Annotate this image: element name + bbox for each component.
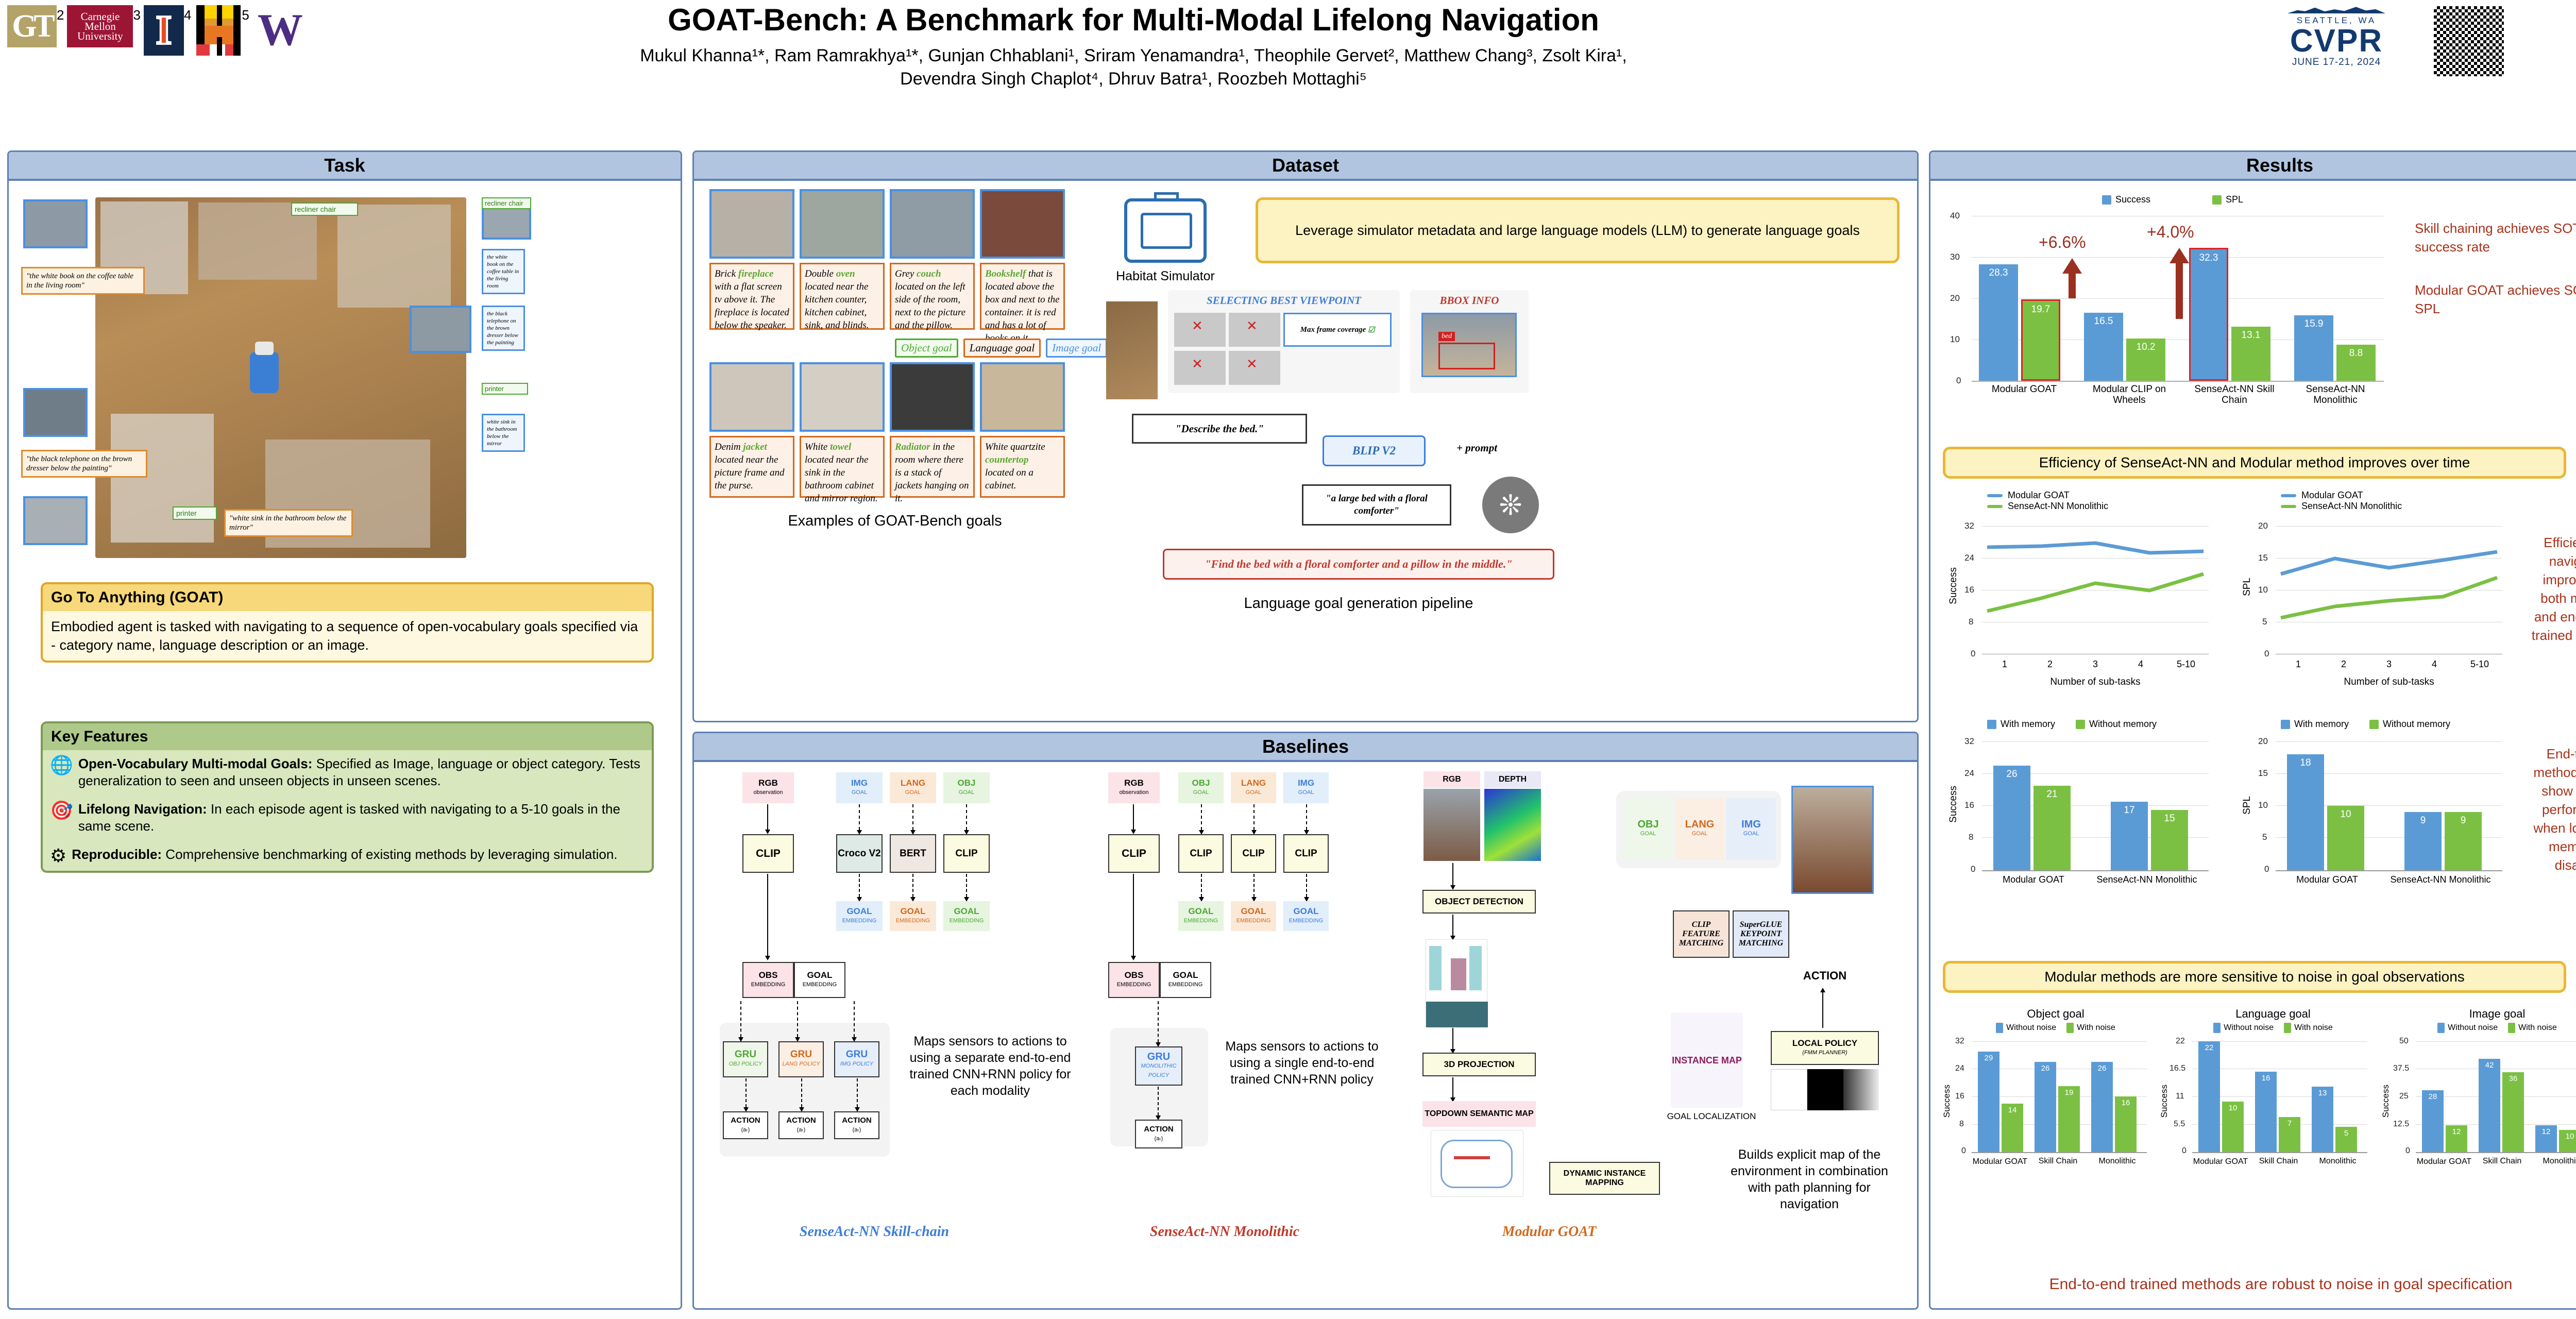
sc-goal-emb-obj: GOALEMBEDDING	[943, 901, 990, 931]
noise-image-plot: 50 37.5 25 12.5 0 28 12 42 36 12 10	[2416, 1041, 2576, 1152]
cvpr-dates: JUNE 17-21, 2024	[2292, 57, 2381, 68]
dataset-thumb-6	[800, 362, 885, 432]
ytick-0: 0	[1956, 376, 1961, 386]
teaser-thumb-1	[23, 199, 88, 248]
mem-ytick-16: 16	[1964, 800, 1974, 810]
mg-object-detection-node: OBJECT DETECTION	[1422, 890, 1536, 914]
chip-object-goal: Object goal	[895, 339, 958, 358]
mg-topdown-label: TOPDOWN SEMANTIC MAP	[1422, 1101, 1536, 1127]
mono-img-goal-node: IMGGOAL	[1283, 772, 1329, 803]
poster-header: GT 2 CarnegieMellonUniversity 3 I 4	[0, 0, 2576, 148]
spl-line-xaxis: 1 2 3 4 5-10	[2276, 659, 2502, 670]
ni-ytick-50: 50	[2399, 1037, 2409, 1046]
sc-action-node-2: ACTION(aₜ)	[778, 1111, 824, 1139]
ytick-20: 20	[1950, 293, 1960, 303]
sc-arrow-bert-goalemb	[912, 874, 913, 897]
bar-value-13-1: 13.1	[2231, 330, 2270, 341]
bar-mem-without-monolithic: 15	[2151, 810, 2188, 870]
success-ytick-0: 0	[1971, 649, 1975, 659]
legend-label-with-noise-3: With noise	[2518, 1023, 2557, 1033]
bar-value-26b: 26	[2091, 1064, 2113, 1073]
main-bar-chart: Success SPL 40 30 20 10 0 28.3 19.7 16.5	[1941, 189, 2404, 431]
xtick-monolithic: SenseAct-NN Monolithic	[2287, 384, 2384, 405]
bar-noise-lang-w-2: 7	[2279, 1117, 2300, 1152]
bar-value-9a: 9	[2404, 815, 2442, 826]
nl-xtick-monolithic: Monolithic	[2308, 1157, 2367, 1166]
goat-body: Embodied agent is tasked with navigating…	[43, 611, 652, 661]
memory-spl-plot: 20 15 10 5 0 18 10 9 9	[2276, 741, 2502, 870]
main-chart-xaxis: Modular GOAT Modular CLIP on Wheels Sens…	[1972, 384, 2384, 405]
memory-success-plot: 32 24 16 8 0 26 21 17 15	[1982, 741, 2209, 870]
bar-memspl-without-modular: 10	[2327, 806, 2364, 870]
noise-language-plot: 22 16.5 11 5.5 0 22 10 16 7 13 5	[2192, 1041, 2367, 1152]
teaser-caption-3: "white sink in the bathroom below the mi…	[224, 509, 353, 537]
spl-line-paths	[2276, 526, 2502, 655]
mg-clip-matching-node: CLIP FEATURE MATCHING	[1673, 910, 1730, 958]
legend-label-monolithic-spl: SenseAct-NN Monolithic	[2301, 501, 2402, 512]
mg-dynamic-mapping-node: DYNAMIC INSTANCE MAPPING	[1549, 1162, 1660, 1195]
sc-img-goal-node: IMGGOAL	[836, 772, 883, 803]
pipeline-scene-thumb	[1106, 301, 1158, 399]
legend-label-success: Success	[2115, 194, 2150, 205]
bar-value-26: 26	[1993, 769, 2030, 780]
legend-swatch-without-noise-2	[2213, 1023, 2221, 1033]
annotation-arrow-4-0	[2176, 257, 2183, 319]
cvpr-name: CVPR	[2290, 26, 2383, 57]
legend-line-modular-goat-spl	[2281, 494, 2296, 497]
noise-banner: Modular methods are more sensitive to no…	[1943, 961, 2566, 993]
authors-line-2: Devendra Singh Chaplot⁴, Dhruv Batra¹, R…	[592, 67, 1674, 91]
llm-gpt-icon: ❊	[1482, 477, 1539, 533]
sc-action-node-3: ACTION(aₜ)	[834, 1111, 879, 1139]
noise-image-title: Image goal	[2384, 1007, 2576, 1021]
legend-line-monolithic	[1987, 505, 2003, 508]
ytick-40: 40	[1950, 211, 1960, 221]
bar-noise-img-w-2: 36	[2502, 1072, 2524, 1152]
dataset-thumb-5	[709, 362, 794, 432]
xtick-cow: Modular CLIP on Wheels	[2077, 384, 2182, 405]
nl-ytick-11: 11	[2176, 1092, 2184, 1101]
key-feature-3-text: Comprehensive benchmarking of existing m…	[162, 847, 617, 862]
dataset-caption-7: Radiator in the room where there is a st…	[890, 436, 975, 498]
note-efficiency-side: Efficiency of navigation improves for bo…	[2531, 533, 2576, 645]
bar-success-cow: 16.5	[2084, 313, 2123, 381]
annotation-label-4-0: +4.0%	[2147, 223, 2194, 242]
mg-goal-localization-label: GOAL LOCALIZATION	[1652, 1111, 1771, 1122]
mg-arrow-proj-topdown	[1452, 1077, 1453, 1098]
noise-language-legend: Without noise With noise	[2162, 1023, 2384, 1033]
key-features-heading: Key Features	[43, 723, 652, 750]
sc-arrow-rgb-clip	[767, 804, 768, 830]
bar-noise-img-w-1: 12	[2446, 1125, 2467, 1152]
mono-arrow-clip-obs	[1133, 874, 1134, 956]
bar-value-10-img: 10	[2559, 1132, 2576, 1141]
bar-value-16: 16	[2115, 1098, 2137, 1107]
note-memory-side: End-to-end methods do not show drop in p…	[2531, 745, 2576, 874]
teaser-object-goal-label-1: recliner chair	[291, 202, 358, 216]
sc-clip2-node: CLIP	[943, 834, 990, 873]
legend-label-without-noise-3: Without noise	[2448, 1023, 2498, 1033]
mg-img-goal-node: IMGGOAL	[1726, 798, 1776, 860]
sc-arrow-clip2-goalemb	[966, 874, 967, 897]
mono-obj-goal-node: OBJGOAL	[1178, 772, 1224, 803]
mono-arrow-gru-action	[1158, 1087, 1159, 1115]
mono-arrow-lang-clip	[1253, 804, 1255, 830]
success-xtick-3: 3	[2073, 659, 2118, 670]
noise-object-title: Object goal	[1945, 1007, 2166, 1021]
bar-value-14: 14	[2002, 1106, 2023, 1114]
open-vocabulary-icon: 🌐	[50, 755, 73, 775]
mg-depth-label: DEPTH	[1484, 771, 1541, 788]
teaser-right-caption-2: the black telephone on the brown dresser…	[482, 306, 525, 351]
teaser-thumb-3	[23, 496, 88, 545]
legend-label-without-memory-spl: Without memory	[2383, 719, 2450, 730]
ni-ytick-25: 25	[2399, 1092, 2409, 1101]
mem-xtick-modular: Modular GOAT	[1982, 874, 2085, 885]
mono-arrow-clip3-goalemb	[1253, 874, 1255, 897]
teaser-caption-1: "the white book on the coffee table in t…	[21, 267, 145, 295]
bar-noise-obj-wo-2: 26	[2035, 1062, 2056, 1152]
max-frame-coverage-box: Max frame coverage ☑	[1283, 313, 1392, 347]
sc-arrow-clip-obs	[767, 874, 768, 956]
noise-object-ylabel: Success	[1942, 1085, 1952, 1118]
bar-spl-cow: 10.2	[2126, 339, 2165, 381]
bar-memspl-without-monolithic: 9	[2445, 812, 2482, 870]
spl-xtick-3: 3	[2366, 659, 2412, 670]
spl-ytick-15: 15	[2258, 553, 2268, 563]
key-features-callout: Key Features 🌐 Open-Vocabulary Multi-mod…	[41, 721, 654, 873]
bar-mem-with-modular: 26	[1993, 766, 2030, 870]
sc-arrow-gru-lang-action	[801, 1078, 802, 1107]
teaser-right-label-2: printer	[482, 383, 528, 395]
llm-note: Leverage simulator metadata and large la…	[1256, 197, 1900, 263]
legend-swatch-without-noise-3	[2437, 1023, 2445, 1033]
noise-object-xaxis: Modular GOAT Skill Chain Monolithic	[1972, 1157, 2147, 1166]
task-teaser-figure: "the white book on the coffee table in t…	[18, 187, 672, 568]
viewpoint-header: SELECTING BEST VIEWPOINT	[1168, 290, 1400, 307]
dataset-panel-title: Dataset	[1272, 155, 1339, 176]
sc-arrow-to-gru-img	[854, 1001, 855, 1037]
bar-value-12a: 12	[2446, 1127, 2467, 1136]
legend-line-monolithic-spl	[2281, 505, 2296, 508]
legend-line-modular-goat	[1987, 494, 2003, 497]
teaser-right-caption-3: white sink in the bathroom below the mir…	[482, 414, 525, 452]
ni-xtick-modular: Modular GOAT	[2416, 1157, 2472, 1166]
no-ytick-8: 8	[1959, 1120, 1964, 1129]
success-line-chart: Modular GOAT SenseAct-NN Monolithic Succ…	[1946, 490, 2234, 706]
legend-swatch-with-memory	[1987, 720, 1996, 729]
legend-swatch-without-memory	[2076, 720, 2085, 729]
teaser-caption-2: "the black telephone on the brown dresse…	[21, 450, 147, 478]
noise-image-legend: Without noise With noise	[2384, 1023, 2576, 1033]
spl-line-legend: Modular GOAT SenseAct-NN Monolithic	[2281, 490, 2402, 512]
dataset-thumb-1	[709, 189, 794, 259]
sc-gru-lang-node: GRULANG POLICY	[778, 1041, 824, 1077]
legend-swatch-spl	[2212, 195, 2222, 205]
chip-language-goal: Language goal	[963, 339, 1041, 358]
legend-swatch-with-noise-3	[2508, 1023, 2515, 1033]
memory-success-xaxis: Modular GOAT SenseAct-NN Monolithic	[1982, 874, 2209, 885]
noise-language-ylabel: Success	[2159, 1085, 2170, 1118]
annotation-arrowhead-4-0	[2170, 248, 2189, 263]
dataset-caption-1: Brick fireplace with a flat screen tv ab…	[709, 263, 794, 330]
bar-value-21: 21	[2033, 789, 2071, 800]
bar-noise-lang-w-1: 10	[2222, 1102, 2244, 1152]
modular-goat-diagram: RGB DEPTH OBJECT DETECTION 3D PROJECTION…	[1415, 770, 1905, 1249]
results-panel-header: Results	[1930, 152, 2576, 181]
xtick-skillchain: SenseAct-NN Skill Chain	[2182, 384, 2287, 405]
mono-rgb-node: RGBobservation	[1108, 772, 1160, 803]
bar-noise-obj-w-2: 19	[2058, 1086, 2080, 1152]
describe-prompt-box: "Describe the bed."	[1132, 414, 1307, 444]
mg-obj-goal-node: OBJGOAL	[1623, 798, 1673, 860]
results-panel-title: Results	[2246, 155, 2313, 176]
memspl-ytick-10: 10	[2258, 800, 2268, 810]
sc-croco-node: Croco V2	[836, 834, 883, 873]
teaser-right-label-1: recliner chair	[482, 197, 531, 209]
mg-planner-strip	[1771, 1069, 1879, 1110]
carnegie-mellon-logo: CarnegieMellonUniversity	[67, 5, 133, 47]
legend-swatch-without-noise-1	[1996, 1023, 2003, 1033]
mg-segmentation-image	[1426, 939, 1487, 1027]
bar-success-skillchain: 32.3	[2189, 248, 2228, 381]
bar-value-10-2: 10.2	[2126, 342, 2165, 353]
sc-arrow-obj-clip	[966, 804, 967, 830]
success-ytick-16: 16	[1964, 585, 1974, 595]
goat-callout: Go To Anything (GOAT) Embodied agent is …	[41, 582, 654, 663]
success-xtick-5-10: 5-10	[2163, 659, 2209, 670]
ytick-10: 10	[1950, 334, 1960, 345]
mono-clip-node-2: CLIP	[1178, 834, 1224, 873]
legend-label-with-memory: With memory	[2001, 719, 2055, 730]
baselines-panel: Baselines RGBobservation IMGGOAL LANGGOA…	[692, 732, 1919, 1310]
dataset-thumb-4	[980, 189, 1065, 259]
baselines-panel-title: Baselines	[1262, 736, 1349, 757]
no-xtick-monolithic: Monolithic	[2088, 1157, 2147, 1166]
no-ytick-16: 16	[1955, 1092, 1964, 1101]
dataset-caption-5: Denim jacket located near the picture fr…	[709, 436, 794, 498]
blip-output-box: "a large bed with a floral comforter"	[1302, 484, 1451, 526]
viewpoint-panel: SELECTING BEST VIEWPOINT Max frame cover…	[1168, 290, 1400, 393]
bar-noise-lang-w-3: 5	[2335, 1127, 2357, 1152]
authors-line-1: Mukul Khanna¹*, Ram Ramrakhya¹*, Gunjan …	[592, 44, 1674, 67]
sc-arrow-lang-bert	[912, 804, 913, 830]
skillchain-caption: Maps sensors to actions to using a separ…	[905, 1033, 1075, 1099]
mem-ytick-8: 8	[1969, 832, 1973, 842]
dataset-caption-4: Bookshelf that is located above the box …	[980, 263, 1065, 330]
floorplan-image	[95, 197, 466, 558]
bar-value-26a: 26	[2035, 1064, 2056, 1073]
mem-ytick-0: 0	[1971, 864, 1975, 874]
dataset-thumb-3	[890, 189, 975, 259]
dataset-caption-2: Double oven located near the kitchen cou…	[800, 263, 885, 330]
baselines-panel-header: Baselines	[694, 733, 1917, 762]
key-feature-2-bold: Lifelong Navigation:	[78, 801, 207, 817]
affil-marker-2: 2	[57, 5, 64, 23]
dataset-panel: Dataset Brick fireplace with a flat scre…	[692, 150, 1919, 722]
sc-goal-embedding-node: GOALEMBEDDING	[794, 962, 845, 998]
cvpr-logo: SEATTLE, WA CVPR JUNE 17-21, 2024	[2262, 6, 2411, 68]
bar-noise-img-wo-1: 28	[2422, 1090, 2444, 1152]
success-line-paths	[1982, 526, 2209, 655]
noise-object-plot: 32 24 16 8 0 29 14 26 19 26 16	[1972, 1041, 2147, 1152]
legend-label-with-noise-2: With noise	[2294, 1023, 2333, 1033]
mg-depth-image	[1484, 789, 1541, 861]
legend-label-modular-goat: Modular GOAT	[2008, 490, 2070, 501]
bar-noise-lang-wo-2: 16	[2255, 1072, 2277, 1152]
sc-arrow-croco-goalemb	[859, 874, 860, 897]
annotation-label-6-6: +6.6%	[2039, 233, 2086, 252]
logo-row: GT 2 CarnegieMellonUniversity 3 I 4	[7, 5, 308, 56]
legend-swatch-without-memory-spl	[2369, 720, 2379, 729]
bar-value-13: 13	[2312, 1089, 2333, 1097]
goal-type-legend: Object goal Language goal Image goal	[895, 339, 1107, 358]
mem-ytick-24: 24	[1964, 768, 1974, 779]
mono-arrow-clip4-goalemb	[1306, 874, 1307, 897]
task-panel-header: Task	[9, 152, 681, 181]
success-line-plot: 32 24 16 8 0	[1982, 526, 2209, 655]
blip-box: BLIP V2	[1323, 435, 1426, 466]
dataset-caption-8: White quartzite countertop located on a …	[980, 436, 1065, 498]
success-ytick-8: 8	[1969, 617, 1973, 627]
mg-local-policy-node: LOCAL POLICY(FMM PLANNER)	[1771, 1031, 1879, 1065]
mono-arrow-to-gru	[1158, 1001, 1159, 1042]
sc-bert-node: BERT	[890, 834, 936, 873]
key-features-body: 🌐 Open-Vocabulary Multi-modal Goals: Spe…	[43, 750, 652, 871]
bar-value-5: 5	[2335, 1129, 2357, 1138]
sc-rgb-node: RGBobservation	[742, 772, 794, 803]
bar-noise-obj-wo-3: 26	[2091, 1062, 2113, 1152]
language-goal-pipeline: SELECTING BEST VIEWPOINT Max frame cover…	[1101, 281, 1905, 688]
legend-label-with-memory-spl: With memory	[2294, 719, 2349, 730]
dataset-thumb-2	[800, 189, 885, 259]
no-ytick-0: 0	[1961, 1146, 1966, 1156]
spl-xtick-1: 1	[2276, 659, 2321, 670]
title-block: GOAT-Bench: A Benchmark for Multi-Modal …	[592, 3, 1674, 91]
annotation-arrowhead-6-6	[2062, 258, 2082, 274]
bar-noise-obj-w-3: 16	[2115, 1096, 2137, 1152]
mono-clip-node-1: CLIP	[1108, 834, 1160, 873]
mono-lang-goal-node: LANGGOAL	[1231, 772, 1276, 803]
bbox-panel: BBOX INFO bed	[1410, 290, 1529, 393]
spl-xtick-5-10: 5-10	[2457, 659, 2502, 670]
nl-xtick-skillchain: Skill Chain	[2249, 1157, 2308, 1166]
page-title: GOAT-Bench: A Benchmark for Multi-Modal …	[592, 3, 1674, 37]
teaser-right-caption-1: the white book on the coffee table in th…	[482, 249, 525, 294]
qr-code[interactable]	[2431, 3, 2507, 79]
mono-arrow-obj-clip	[1201, 804, 1202, 830]
nl-ytick-22: 22	[2176, 1037, 2185, 1046]
success-line-xaxis: 1 2 3 4 5-10	[1982, 659, 2209, 670]
no-ytick-32: 32	[1955, 1037, 1964, 1046]
modular-caption: Builds explicit map of the environment i…	[1724, 1146, 1894, 1212]
task-panel-title: Task	[324, 155, 365, 176]
skillchain-name: SenseAct-NN Skill-chain	[709, 1224, 1039, 1240]
bar-noise-obj-wo-1: 29	[1978, 1052, 1999, 1152]
legend-label-monolithic: SenseAct-NN Monolithic	[2008, 501, 2108, 512]
xtick-modular-goat: Modular GOAT	[1972, 384, 2077, 405]
legend-label-without-memory: Without memory	[2089, 719, 2157, 730]
legend-label-without-noise-1: Without noise	[2006, 1023, 2056, 1033]
bar-value-10-lang: 10	[2222, 1104, 2244, 1112]
spl-ytick-10: 10	[2258, 585, 2268, 595]
efficiency-banner: Efficiency of SenseAct-NN and Modular me…	[1943, 447, 2566, 479]
pipeline-caption: Language goal generation pipeline	[1163, 595, 1554, 612]
sc-action-node-1: ACTION(aₜ)	[723, 1111, 768, 1139]
dataset-panel-header: Dataset	[694, 152, 1917, 181]
habitat-icon	[1124, 198, 1207, 263]
mem-xtick-monolithic: SenseAct-NN Monolithic	[2085, 874, 2209, 885]
mg-action-label: ACTION	[1786, 969, 1863, 983]
noise-language-xaxis: Modular GOAT Skill Chain Monolithic	[2192, 1157, 2367, 1166]
ni-ytick-0: 0	[2405, 1146, 2410, 1156]
ni-ytick-12-5: 12.5	[2393, 1120, 2409, 1129]
mono-clip-node-3: CLIP	[1231, 834, 1276, 873]
maryland-logo	[194, 5, 242, 56]
ni-xtick-skillchain: Skill Chain	[2472, 1157, 2532, 1166]
mono-goal-emb-lang: GOALEMBEDDING	[1231, 901, 1276, 931]
nl-xtick-modular: Modular GOAT	[2192, 1157, 2249, 1166]
dataset-thumb-8	[980, 362, 1065, 432]
main-chart-plot: 40 30 20 10 0 28.3 19.7 16.5 10.2 32.3 1…	[1972, 216, 2384, 381]
sc-arrow-to-gru-lang	[797, 1001, 798, 1037]
mg-arrow-detect-seg	[1452, 915, 1453, 936]
chip-image-goal: Image goal	[1046, 339, 1107, 358]
mg-arrow-policy-action	[1822, 992, 1823, 1028]
bar-spl-skillchain: 13.1	[2231, 327, 2270, 381]
mg-lang-goal-node: LANGGOAL	[1675, 798, 1724, 860]
affil-marker-5: 5	[242, 5, 249, 23]
teaser-right-thumb-2	[410, 306, 471, 353]
modular-name: Modular GOAT	[1446, 1224, 1652, 1240]
success-ytick-24: 24	[1964, 553, 1974, 563]
noise-language-title: Language goal	[2162, 1007, 2384, 1021]
spl-xtick-4: 4	[2412, 659, 2457, 670]
habitat-simulator-block: Habitat Simulator	[1101, 198, 1230, 284]
bar-spl-modular-goat: 19.7	[2021, 299, 2060, 381]
success-xtick-2: 2	[2027, 659, 2073, 670]
sc-arrow-to-gru-obj	[740, 1001, 741, 1037]
mg-arrow-rgb-detect	[1452, 863, 1453, 886]
bar-value-29: 29	[1978, 1054, 1999, 1062]
sc-lang-goal-node: LANGGOAL	[890, 772, 936, 803]
memspl-xtick-monolithic: SenseAct-NN Monolithic	[2379, 874, 2502, 885]
memspl-ytick-15: 15	[2258, 768, 2268, 779]
sc-gru-img-node: GRUIMG POLICY	[834, 1041, 879, 1077]
noise-language-chart: Language goal Without noise With noise S…	[2162, 1007, 2384, 1208]
noise-object-chart: Object goal Without noise With noise Suc…	[1945, 1007, 2166, 1208]
note-sota-success: Skill chaining achieves SOTA on success …	[2415, 219, 2576, 256]
mono-gru-node: GRUMONOLITHIC POLICY	[1135, 1046, 1182, 1086]
mono-goal-embedding-node: GOALEMBEDDING	[1160, 962, 1211, 998]
ytick-30: 30	[1950, 252, 1960, 262]
note-sota-spl: Modular GOAT achieves SOTA on SPL	[2415, 281, 2576, 318]
mg-arrow-seg-proj	[1452, 1028, 1453, 1050]
legend-label-without-noise-2: Without noise	[2224, 1023, 2274, 1033]
bar-value-42: 42	[2479, 1061, 2500, 1070]
key-feature-1-bold: Open-Vocabulary Multi-modal Goals:	[78, 756, 313, 771]
mono-arrow-rgb-clip	[1133, 804, 1134, 830]
spl-line-ylabel: SPL	[2242, 578, 2253, 596]
mg-rgb-label: RGB	[1423, 771, 1480, 788]
legend-swatch-with-noise-2	[2284, 1023, 2291, 1033]
affil-marker-3: 3	[133, 5, 140, 23]
reproducible-icon: ⚙	[50, 846, 66, 866]
results-panel: Results Success SPL 40 30 20 10 0 28.3 1…	[1929, 150, 2576, 1310]
spl-ytick-0: 0	[2264, 649, 2269, 659]
sc-arrow-gru-obj-action	[745, 1078, 747, 1107]
memory-success-ylabel: Success	[1948, 786, 1959, 823]
